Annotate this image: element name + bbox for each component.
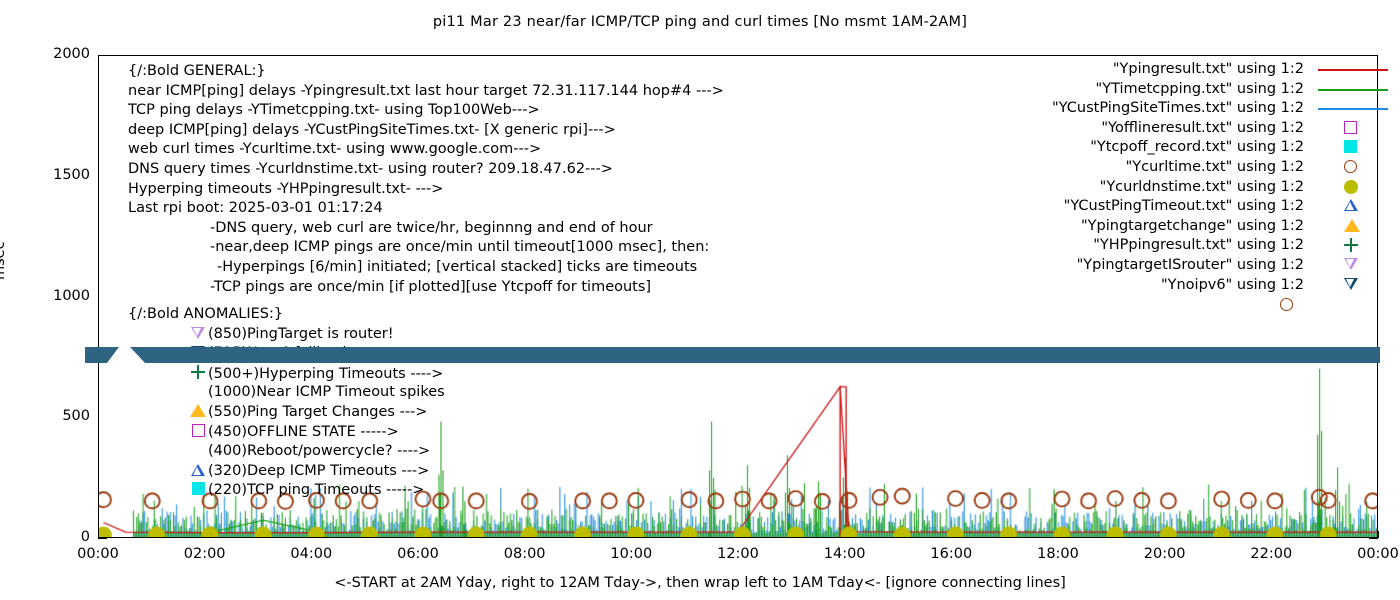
legend-item-label: "Yofflineresult.txt" using 1:2 xyxy=(1101,120,1304,136)
annotation-text: (1000)Near ICMP Timeout spikes xyxy=(208,384,445,400)
legend-item-key-circle-open-icon xyxy=(1312,158,1396,178)
x-tick-label: 04:00 xyxy=(276,546,346,562)
x-tick-label: 06:00 xyxy=(383,546,453,562)
annotation-triangle-up-blue-icon xyxy=(188,463,208,483)
annotation-triangle-down-violet-icon xyxy=(188,326,208,346)
legend-item[interactable]: "YCustPingSiteTimes.txt" using 1:2 xyxy=(1052,99,1304,119)
legend-item-label: "YTimetcpping.txt" using 1:2 xyxy=(1096,81,1304,97)
annotation-text: (220)TCP ping Timeouts -----> xyxy=(208,482,424,498)
annotation-text: Hyperping timeouts -YHPpingresult.txt- -… xyxy=(128,181,443,197)
legend-item-label: "YCustPingTimeout.txt" using 1:2 xyxy=(1064,198,1304,214)
legend-item-key-line-icon xyxy=(1312,99,1396,119)
y-tick-label: 1500 xyxy=(20,167,90,183)
x-tick-label: 00:00 xyxy=(1343,546,1400,562)
x-tick-label: 14:00 xyxy=(810,546,880,562)
legend-item-key-triangle-down-open-icon xyxy=(1312,256,1396,276)
x-axis-caption: <-START at 2AM Yday, right to 12AM Tday-… xyxy=(0,575,1400,591)
x-tick-label: 00:00 xyxy=(63,546,133,562)
annotation-line: Last rpi boot: 2025-03-01 01:17:24 xyxy=(128,199,724,219)
legend-item-key-triangle-down-open2-icon xyxy=(1312,276,1396,296)
general-heading: {/:Bold GENERAL:} xyxy=(128,62,724,82)
y-tick-label: 1000 xyxy=(20,288,90,304)
x-tick-mark xyxy=(1378,531,1379,538)
x-tick-label: 18:00 xyxy=(1023,546,1093,562)
legend-item-key-line-icon xyxy=(1312,80,1396,100)
x-tick-label: 02:00 xyxy=(170,546,240,562)
x-tick-label: 10:00 xyxy=(596,546,666,562)
annotation-line: TCP ping delays -YTimetcpping.txt- using… xyxy=(128,101,724,121)
legend-item-label: "Ycurltime.txt" using 1:2 xyxy=(1126,159,1304,175)
annotation-text: (500+)Hyperping Timeouts ----> xyxy=(208,366,443,382)
legend-item-key-circle-filled-icon xyxy=(1312,178,1396,198)
annotation-triangle-down-navy-icon xyxy=(188,345,208,365)
x-tick-label: 08:00 xyxy=(490,546,560,562)
annotation-line: (500+)Hyperping Timeouts ----> xyxy=(128,364,445,384)
annotation-text: -TCP pings are once/min [if plotted][use… xyxy=(210,279,651,295)
page-title: pi11 Mar 23 near/far ICMP/TCP ping and c… xyxy=(0,14,1400,30)
annotation-text: (450)OFFLINE STATE -----> xyxy=(208,424,399,440)
annotation-text: TCP ping delays -YTimetcpping.txt- using… xyxy=(128,102,540,118)
legend-item-key-line-icon xyxy=(1312,60,1396,80)
annotation-line: (850)PingTarget is router! xyxy=(128,325,445,345)
annotation-text: DNS query times -Ycurldnstime.txt- using… xyxy=(128,161,613,177)
legend-item-key-square-open-icon xyxy=(1312,119,1396,139)
annotation-text: (850)PingTarget is router! xyxy=(208,326,394,342)
anomaly-heading: {/:Bold ANOMALIES:} xyxy=(128,305,445,325)
annotation-line: (1000)Near ICMP Timeout spikes xyxy=(128,383,445,403)
annotation-line: (400)Reboot/powercycle? ----> xyxy=(128,442,445,462)
x-tick-label: 20:00 xyxy=(1130,546,1200,562)
annotation-line: near ICMP[ping] delays -Ypingresult.txt … xyxy=(128,82,724,102)
legend-item-label: "Ycurldnstime.txt" using 1:2 xyxy=(1100,179,1304,195)
annotation-text: (725)Nno 6 fallback xyxy=(208,345,351,361)
annotation-line: deep ICMP[ping] delays -YCustPingSiteTim… xyxy=(128,121,724,141)
annotation-line: -Hyperpings [6/min] initiated; [vertical… xyxy=(128,258,724,278)
legend-item-label: "Ypingtargetchange" using 1:2 xyxy=(1081,218,1304,234)
annotation-line: (220)TCP ping Timeouts -----> xyxy=(128,481,445,501)
legend-item[interactable]: "YHPpingresult.txt" using 1:2 xyxy=(1052,236,1304,256)
legend-item[interactable]: "Ycurldnstime.txt" using 1:2 xyxy=(1052,178,1304,198)
x-tick-label: 16:00 xyxy=(916,546,986,562)
annotation-line: web curl times -Ycurltime.txt- using www… xyxy=(128,140,724,160)
annotation-text: deep ICMP[ping] delays -YCustPingSiteTim… xyxy=(128,122,616,138)
legend-item-key-square-filled-icon xyxy=(1312,138,1396,158)
annotation-line: Hyperping timeouts -YHPpingresult.txt- -… xyxy=(128,180,724,200)
general-annotations: {/:Bold GENERAL:} near ICMP[ping] delays… xyxy=(128,62,724,297)
legend-item[interactable]: "Ycurltime.txt" using 1:2 xyxy=(1052,158,1304,178)
y-tick-label: 500 xyxy=(20,408,90,424)
annotation-line: DNS query times -Ycurldnstime.txt- using… xyxy=(128,160,724,180)
legend-extra-circle-icon xyxy=(1280,298,1310,314)
legend-item-label: "YpingtargetISrouter" using 1:2 xyxy=(1077,257,1304,273)
legend-item[interactable]: "Ytcpoff_record.txt" using 1:2 xyxy=(1052,138,1304,158)
annotation-text: (400)Reboot/powercycle? ----> xyxy=(208,443,430,459)
legend-item[interactable]: "Yofflineresult.txt" using 1:2 xyxy=(1052,119,1304,139)
annotation-text: (550)Ping Target Changes ---> xyxy=(208,404,427,420)
annotation-line: (450)OFFLINE STATE -----> xyxy=(128,423,445,443)
legend-item[interactable]: "Ypingtargetchange" using 1:2 xyxy=(1052,217,1304,237)
legend-item-key-triangle-up-filled-icon xyxy=(1312,217,1396,237)
legend: "Ypingresult.txt" using 1:2"YTimetcpping… xyxy=(1052,60,1304,295)
annotation-line: -DNS query, web curl are twice/hr, begin… xyxy=(128,219,724,239)
legend-item[interactable]: "YTimetcpping.txt" using 1:2 xyxy=(1052,80,1304,100)
annotation-text: near ICMP[ping] delays -Ypingresult.txt … xyxy=(128,83,724,99)
annotation-line: -TCP pings are once/min [if plotted][use… xyxy=(128,278,724,298)
annotation-text: Last rpi boot: 2025-03-01 01:17:24 xyxy=(128,200,383,216)
legend-item[interactable]: "YCustPingTimeout.txt" using 1:2 xyxy=(1052,197,1304,217)
annotation-triangle-up-orange-icon xyxy=(188,404,208,424)
legend-item[interactable]: "YpingtargetISrouter" using 1:2 xyxy=(1052,256,1304,276)
y-tick-mark xyxy=(98,538,107,539)
annotation-line: (320)Deep ICMP Timeouts ---> xyxy=(128,462,445,482)
annotation-text: web curl times -Ycurltime.txt- using www… xyxy=(128,141,541,157)
annotation-line: -near,deep ICMP pings are once/min until… xyxy=(128,238,724,258)
legend-item-label: "YCustPingSiteTimes.txt" using 1:2 xyxy=(1052,100,1304,116)
annotation-text: -DNS query, web curl are twice/hr, begin… xyxy=(210,220,653,236)
legend-item-label: "Ytcpoff_record.txt" using 1:2 xyxy=(1090,139,1304,155)
anomaly-annotations: {/:Bold ANOMALIES:} (850)PingTarget is r… xyxy=(128,305,445,501)
annotation-line: (725)Nno 6 fallback xyxy=(128,344,445,364)
x-tick-label: 22:00 xyxy=(1236,546,1306,562)
annotation-square-open-magenta-icon xyxy=(188,424,208,444)
annotation-text: -near,deep ICMP pings are once/min until… xyxy=(210,239,709,255)
x-tick-label: 12:00 xyxy=(703,546,773,562)
legend-item-label: "Ypingresult.txt" using 1:2 xyxy=(1113,61,1304,77)
annotation-square-filled-cyan-icon xyxy=(188,482,208,502)
y-tick-label: 2000 xyxy=(20,46,90,62)
annotation-text: (320)Deep ICMP Timeouts ---> xyxy=(208,463,429,479)
annotation-line: (550)Ping Target Changes ---> xyxy=(128,403,445,423)
legend-item-key-plus-icon xyxy=(1312,236,1396,256)
legend-item[interactable]: "Ypingresult.txt" using 1:2 xyxy=(1052,60,1304,80)
annotation-plus-green-icon xyxy=(188,365,208,386)
annotation-text: -Hyperpings [6/min] initiated; [vertical… xyxy=(217,259,697,275)
y-tick-label: 0 xyxy=(20,529,90,545)
legend-item[interactable]: "Ynoipv6" using 1:2 xyxy=(1052,276,1304,296)
legend-item-key-triangle-up-open-icon xyxy=(1312,197,1396,217)
legend-item-label: "YHPpingresult.txt" using 1:2 xyxy=(1093,237,1304,253)
y-axis-label: msec xyxy=(0,241,8,280)
y-tick-mark xyxy=(1369,538,1378,539)
legend-item-label: "Ynoipv6" using 1:2 xyxy=(1161,277,1304,293)
